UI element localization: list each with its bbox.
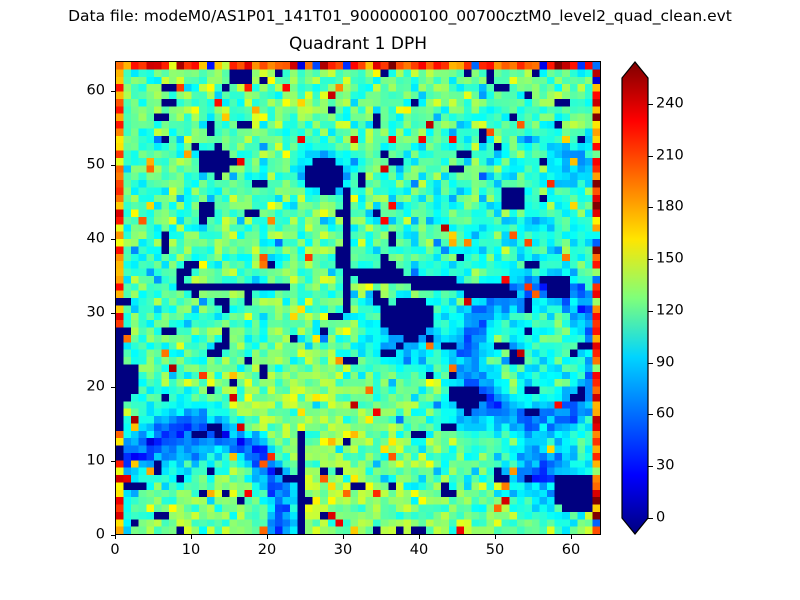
colorbar-tick-mark bbox=[648, 363, 653, 364]
y-tick-label: 20 bbox=[67, 379, 105, 396]
y-tick-label: 0 bbox=[67, 527, 105, 544]
colorbar-gradient bbox=[622, 62, 648, 534]
colorbar-tick-label: 240 bbox=[656, 96, 684, 113]
x-tick-mark bbox=[191, 535, 192, 539]
colorbar-tick-mark bbox=[648, 207, 653, 208]
y-tick-label: 10 bbox=[67, 453, 105, 470]
heatmap-axes bbox=[115, 61, 601, 535]
y-tick-label: 50 bbox=[67, 157, 105, 174]
x-tick-mark bbox=[495, 535, 496, 539]
colorbar-tick-mark bbox=[648, 259, 653, 260]
y-tick-mark bbox=[111, 165, 115, 166]
colorbar-body bbox=[622, 62, 648, 534]
colorbar-tick-label: 60 bbox=[656, 406, 674, 423]
colorbar-tick-mark bbox=[648, 466, 653, 467]
colorbar-tick-label: 90 bbox=[656, 355, 674, 372]
x-tick-label: 10 bbox=[182, 542, 200, 559]
x-tick-label: 50 bbox=[486, 542, 504, 559]
x-tick-mark bbox=[115, 535, 116, 539]
y-tick-mark bbox=[111, 313, 115, 314]
x-tick-mark bbox=[343, 535, 344, 539]
x-tick-mark bbox=[267, 535, 268, 539]
y-tick-mark bbox=[111, 535, 115, 536]
colorbar bbox=[622, 62, 648, 534]
x-tick-label: 0 bbox=[110, 542, 119, 559]
colorbar-tick-label: 180 bbox=[656, 199, 684, 216]
colorbar-tick-mark bbox=[648, 311, 653, 312]
x-tick-label: 30 bbox=[334, 542, 352, 559]
x-tick-mark bbox=[419, 535, 420, 539]
colorbar-tick-mark bbox=[648, 156, 653, 157]
data-file-suptitle: Data file: modeM0/AS1P01_141T01_90000001… bbox=[0, 7, 800, 26]
colorbar-tick-mark bbox=[648, 414, 653, 415]
colorbar-tick-label: 0 bbox=[656, 510, 665, 527]
x-tick-label: 60 bbox=[562, 542, 580, 559]
page-title: Quadrant 1 DPH bbox=[115, 33, 601, 55]
y-tick-label: 30 bbox=[67, 305, 105, 322]
colorbar-tick-mark bbox=[648, 518, 653, 519]
x-tick-label: 40 bbox=[410, 542, 428, 559]
y-tick-label: 40 bbox=[67, 231, 105, 248]
y-tick-mark bbox=[111, 461, 115, 462]
figure-canvas: Data file: modeM0/AS1P01_141T01_90000001… bbox=[0, 0, 800, 600]
y-tick-label: 60 bbox=[67, 83, 105, 100]
x-tick-mark bbox=[571, 535, 572, 539]
colorbar-tick-label: 30 bbox=[656, 458, 674, 475]
y-tick-mark bbox=[111, 387, 115, 388]
colorbar-tick-label: 210 bbox=[656, 148, 684, 165]
colorbar-tick-label: 150 bbox=[656, 251, 684, 268]
y-tick-mark bbox=[111, 239, 115, 240]
heatmap-image bbox=[116, 62, 600, 534]
y-tick-mark bbox=[111, 91, 115, 92]
x-tick-label: 20 bbox=[258, 542, 276, 559]
colorbar-tick-label: 120 bbox=[656, 303, 684, 320]
colorbar-tick-mark bbox=[648, 104, 653, 105]
